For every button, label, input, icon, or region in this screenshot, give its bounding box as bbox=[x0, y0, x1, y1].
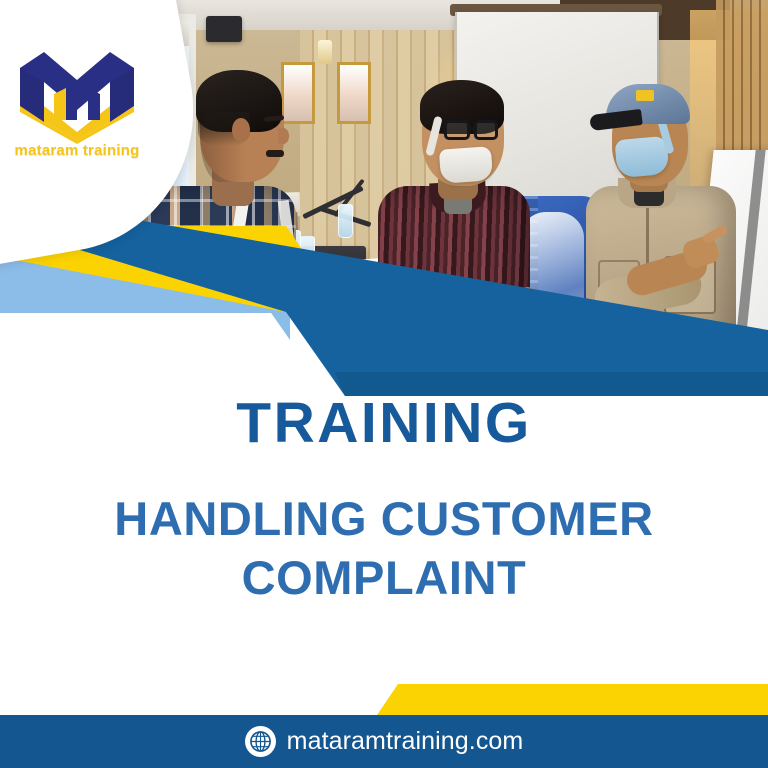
person-cap-vest-cap-logo bbox=[636, 90, 654, 101]
logo-wordmark: mataram training bbox=[14, 142, 140, 159]
training-poster: mataram training TRAINING HANDLING CUSTO… bbox=[0, 0, 768, 768]
person-striped-shirt-face-mask bbox=[439, 146, 493, 184]
page-subtitle: HANDLING CUSTOMER COMPLAINT bbox=[0, 490, 768, 608]
wall-sconce bbox=[318, 40, 332, 64]
footer-bar: mataramtraining.com bbox=[0, 715, 768, 768]
person-plaid-shirt-ear bbox=[232, 118, 250, 142]
person-plaid-shirt-moustache bbox=[266, 150, 284, 157]
water-bottle bbox=[300, 236, 315, 278]
person-plaid-shirt-nose bbox=[278, 128, 289, 144]
person-striped-shirt-glasses bbox=[444, 120, 470, 140]
mataram-m-logo-icon bbox=[14, 44, 140, 144]
brand-logo: mataram training bbox=[14, 44, 140, 172]
footer-yellow-accent bbox=[0, 684, 768, 718]
wall-picture-frame bbox=[281, 62, 315, 124]
globe-icon bbox=[245, 726, 276, 757]
page-title: TRAINING bbox=[0, 395, 768, 452]
website-url[interactable]: mataramtraining.com bbox=[287, 727, 524, 756]
title-block: TRAINING HANDLING CUSTOMER COMPLAINT bbox=[0, 395, 768, 608]
water-bottle bbox=[338, 204, 353, 238]
wall-picture-frame bbox=[337, 62, 371, 124]
person-striped-shirt-glasses-bridge bbox=[469, 127, 476, 130]
wall-speaker bbox=[206, 16, 242, 42]
person-striped-shirt-glasses bbox=[474, 120, 498, 140]
